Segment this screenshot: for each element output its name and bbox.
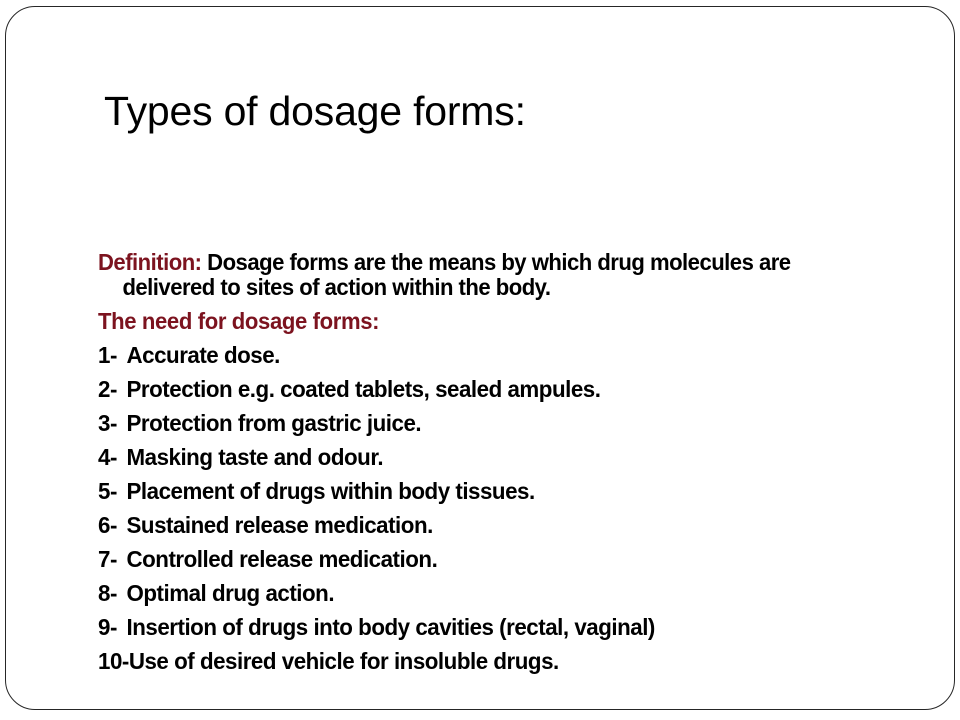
list-item-number: 7- xyxy=(98,544,127,574)
list-item: 9-Insertion of drugs into body cavities … xyxy=(98,612,887,646)
list-item: 7-Controlled release medication. xyxy=(98,544,887,578)
list-item-label: Controlled release medication. xyxy=(127,546,438,572)
presentation-slide: Types of dosage forms: Definition: Dosag… xyxy=(0,0,960,720)
list-item-number: 1- xyxy=(98,340,127,370)
list-item: 1-Accurate dose. xyxy=(98,340,887,374)
definition-paragraph: Definition: Dosage forms are the means b… xyxy=(98,250,878,300)
list-item-number: 2- xyxy=(98,374,127,404)
list-item-label: Protection from gastric juice. xyxy=(127,410,422,436)
definition-label: Definition: xyxy=(98,249,202,275)
list-item-number: 5- xyxy=(98,476,127,506)
list-item-label: Use of desired vehicle for insoluble dru… xyxy=(129,648,559,674)
list-item-number: 3- xyxy=(98,408,127,438)
list-item-number: 10- xyxy=(98,646,129,676)
list-item-number: 6- xyxy=(98,510,127,540)
slide-body: Definition: Dosage forms are the means b… xyxy=(98,250,928,680)
list-item: 8-Optimal drug action. xyxy=(98,578,887,612)
list-item: 4-Masking taste and odour. xyxy=(98,442,887,476)
need-for-dosage-forms-heading: The need for dosage forms: xyxy=(98,308,878,334)
slide-title: Types of dosage forms: xyxy=(104,90,526,133)
needs-list: 1-Accurate dose. 2-Protection e.g. coate… xyxy=(98,340,928,680)
list-item-label: Optimal drug action. xyxy=(127,580,335,606)
list-item-label: Sustained release medication. xyxy=(127,512,433,538)
list-item-number: 9- xyxy=(98,612,127,642)
list-item-number: 8- xyxy=(98,578,127,608)
list-item: 5-Placement of drugs within body tissues… xyxy=(98,476,887,510)
list-item-label: Insertion of drugs into body cavities (r… xyxy=(127,614,655,640)
list-item: 2-Protection e.g. coated tablets, sealed… xyxy=(98,374,887,408)
list-item-label: Placement of drugs within body tissues. xyxy=(127,478,535,504)
list-item-label: Accurate dose. xyxy=(127,342,280,368)
list-item-label: Protection e.g. coated tablets, sealed a… xyxy=(127,376,601,402)
list-item: 10-Use of desired vehicle for insoluble … xyxy=(98,646,887,680)
list-item: 6-Sustained release medication. xyxy=(98,510,887,544)
list-item-label: Masking taste and odour. xyxy=(127,444,384,470)
definition-text: Dosage forms are the means by which drug… xyxy=(122,249,790,300)
list-item-number: 4- xyxy=(98,442,127,472)
list-item: 3-Protection from gastric juice. xyxy=(98,408,887,442)
